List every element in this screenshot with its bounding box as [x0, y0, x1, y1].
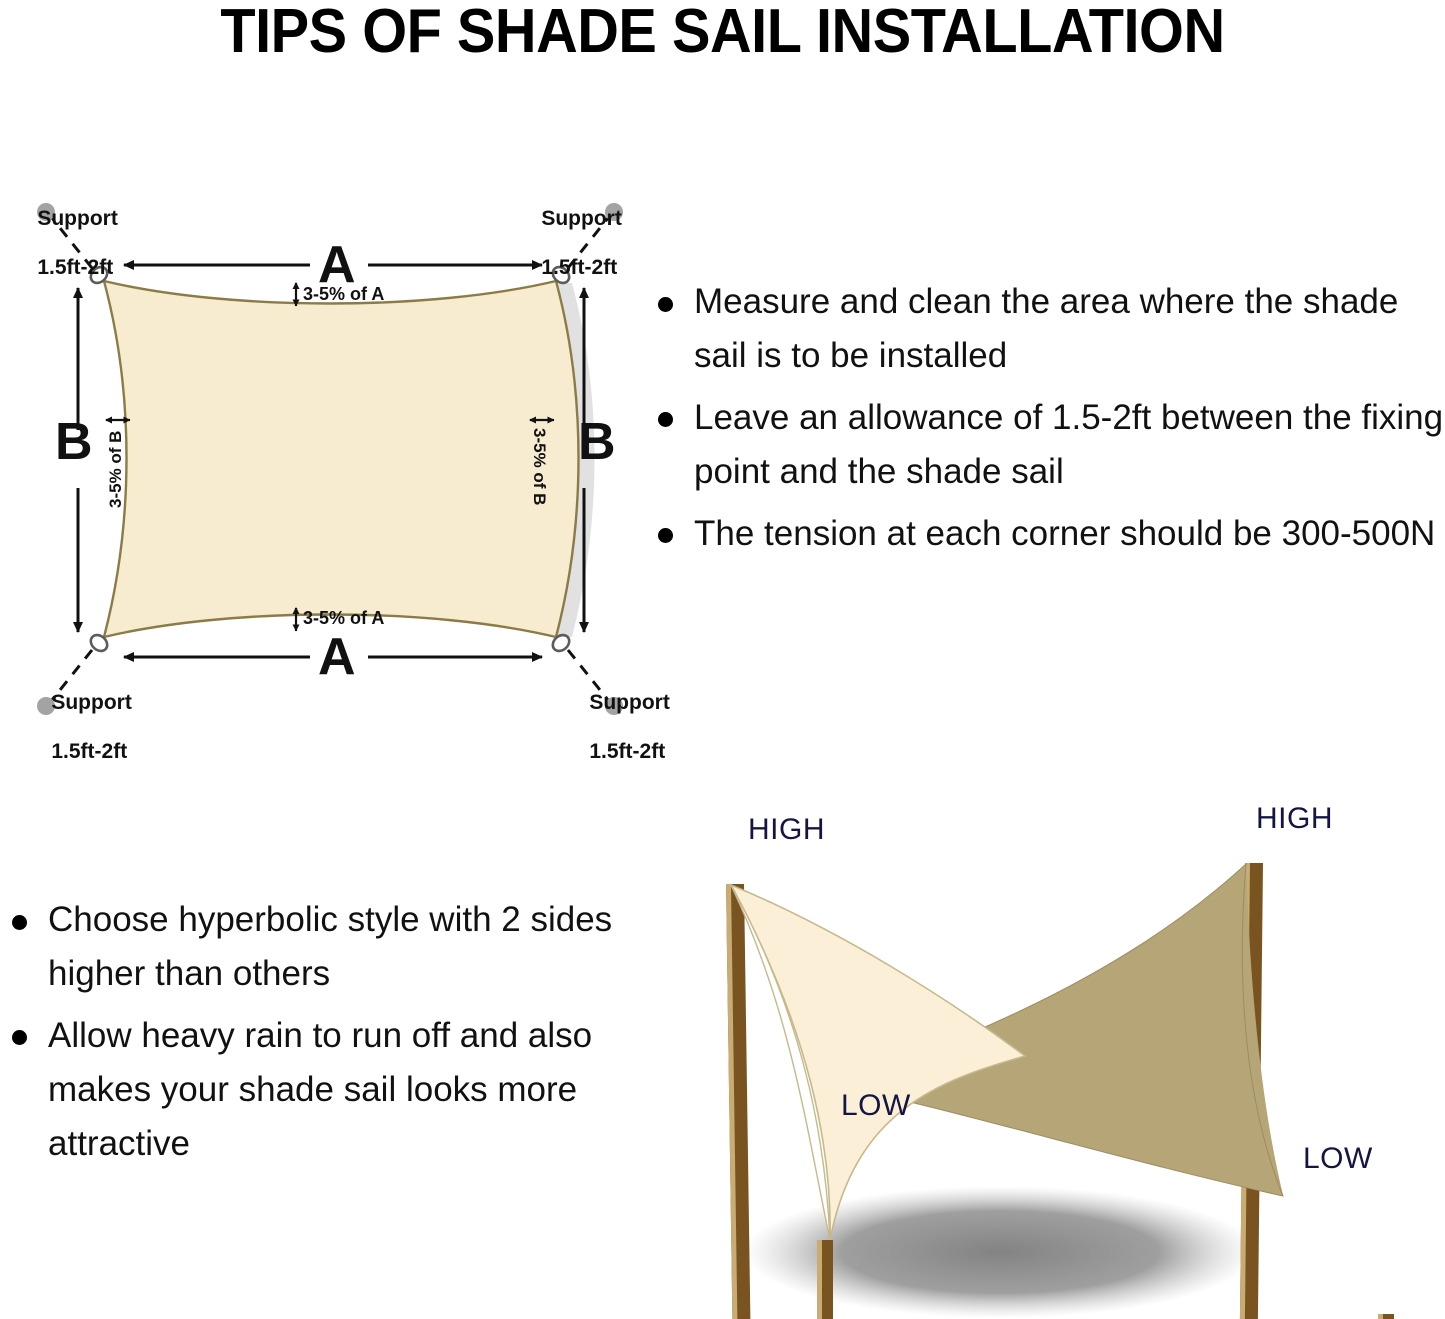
support-label-line1: Support: [37, 207, 117, 230]
curvature-note-top: 3-5% of A: [303, 284, 384, 305]
curvature-note-left: 3-5% of B: [106, 431, 126, 508]
post-back-left: [726, 884, 754, 1319]
support-label-line1: Support: [541, 207, 621, 230]
support-label-line2: 1.5ft-2ft: [51, 740, 127, 763]
post-label-low-left: LOW: [841, 1089, 911, 1123]
dimension-letter-b-left: B: [55, 416, 93, 468]
corner-eyelets: [88, 264, 573, 654]
post-label-low-right: LOW: [1303, 1142, 1373, 1176]
sail-back-panel: [1020, 864, 1283, 1195]
support-label-line2: 1.5ft-2ft: [37, 256, 113, 279]
post-label-high-right: HIGH: [1256, 802, 1333, 836]
support-label-line2: 1.5ft-2ft: [541, 256, 617, 279]
curvature-note-right: 3-5% of B: [529, 428, 549, 505]
dimension-letter-a-bottom: A: [318, 631, 356, 683]
curvature-note-bottom: 3-5% of A: [303, 608, 384, 629]
tip-item: Allow heavy rain to run off and also mak…: [2, 1009, 622, 1171]
tip-item: The tension at each corner should be 300…: [648, 507, 1445, 561]
installation-tips-right-column: Measure and clean the area where the sha…: [648, 275, 1445, 568]
support-label-bottom-right: Support 1.5ft-2ft: [566, 666, 670, 790]
sail-front-panel-curve: [731, 885, 830, 1240]
post-front-left: [817, 1240, 833, 1319]
support-label-line1: Support: [51, 691, 131, 714]
support-label-line2: 1.5ft-2ft: [589, 740, 665, 763]
rect-sail-body: [104, 281, 579, 637]
installation-tips-left-column: Choose hyperbolic style with 2 sides hig…: [2, 893, 622, 1178]
tip-item: Choose hyperbolic style with 2 sides hig…: [2, 893, 622, 1001]
sail-front-panel: [731, 885, 1025, 1240]
support-label-top-right: Support 1.5ft-2ft: [518, 182, 622, 306]
post-front-right: [1378, 1314, 1394, 1319]
support-label-line1: Support: [589, 691, 669, 714]
sail-back-panel-extension: [836, 864, 1283, 1196]
infographic-page: TIPS OF SHADE SAIL INSTALLATION: [0, 0, 1445, 1319]
post-back-right: [1239, 863, 1263, 1319]
support-label-bottom-left: Support 1.5ft-2ft: [28, 666, 132, 790]
tip-item: Measure and clean the area where the sha…: [648, 275, 1445, 383]
post-label-high-left: HIGH: [748, 813, 825, 847]
dimension-letter-b-right: B: [578, 416, 616, 468]
support-label-top-left: Support 1.5ft-2ft: [14, 182, 118, 306]
ground-shadow: [744, 1186, 1256, 1318]
page-title: TIPS OF SHADE SAIL INSTALLATION: [51, 0, 1395, 67]
tip-item: Leave an allowance of 1.5-2ft between th…: [648, 391, 1445, 499]
